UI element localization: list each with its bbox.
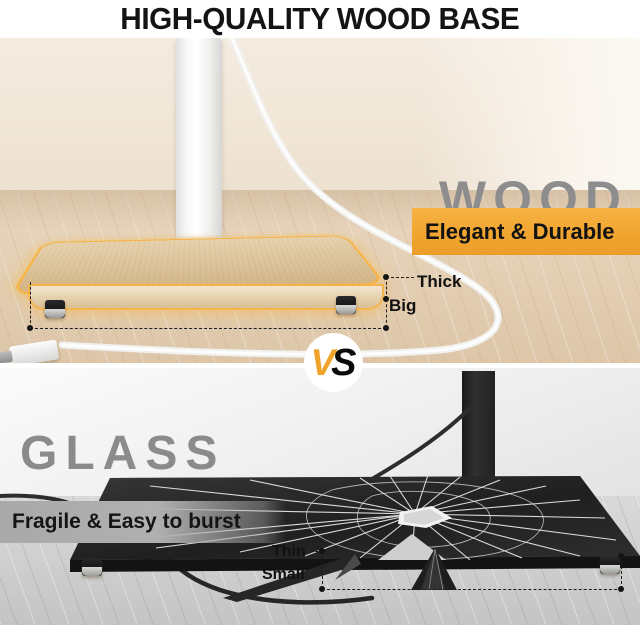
glass-feature-label: Fragile & Easy to burst bbox=[12, 510, 241, 534]
caster-icon bbox=[82, 558, 102, 576]
caster-hub bbox=[600, 565, 620, 574]
callout-dot bbox=[319, 586, 325, 592]
callout-dot bbox=[383, 274, 389, 280]
caster-icon bbox=[45, 300, 65, 318]
white-pole-icon bbox=[176, 38, 222, 243]
small-callout-line-right bbox=[621, 556, 622, 589]
header-bar: HIGH-QUALITY WOOD BASE bbox=[0, 0, 640, 38]
wood-feature-band: Elegant & Durable bbox=[412, 208, 640, 255]
big-callout-line-bottom bbox=[30, 328, 386, 329]
caster-hub bbox=[45, 309, 65, 318]
small-callout-line-bottom bbox=[322, 589, 622, 590]
thick-callout-line bbox=[386, 277, 414, 278]
wood-base-edge bbox=[30, 286, 382, 308]
wood-panel: WOOD Elegant & Durable bbox=[0, 38, 640, 363]
small-callout-line-left bbox=[322, 551, 323, 589]
big-callout-line-right bbox=[386, 299, 387, 328]
big-callout-line-left bbox=[30, 282, 31, 328]
callout-big-label: Big bbox=[389, 296, 416, 316]
versus-s-letter: S bbox=[331, 344, 356, 382]
callout-dot bbox=[319, 548, 325, 554]
callout-dot bbox=[618, 586, 624, 592]
comparison-infographic: HIGH-QUALITY WOOD BASE WOOD Elegan bbox=[0, 0, 640, 625]
callout-dot bbox=[27, 325, 33, 331]
glass-feature-band: Fragile & Easy to burst bbox=[0, 501, 286, 543]
caster-icon bbox=[600, 556, 620, 574]
callout-thin-label: Thin bbox=[272, 543, 306, 561]
callout-dot bbox=[383, 325, 389, 331]
callout-dot bbox=[618, 553, 624, 559]
caster-hub bbox=[82, 567, 102, 576]
wood-feature-label: Elegant & Durable bbox=[425, 219, 614, 245]
callout-small-label: Small bbox=[262, 566, 305, 584]
callout-thick-label: Thick bbox=[417, 272, 461, 292]
versus-badge: V S bbox=[305, 334, 362, 391]
plug-prongs bbox=[0, 351, 13, 363]
page-title: HIGH-QUALITY WOOD BASE bbox=[121, 1, 520, 37]
caster-icon bbox=[336, 296, 356, 314]
glass-word-mark: GLASS bbox=[20, 430, 225, 478]
caster-hub bbox=[336, 305, 356, 314]
